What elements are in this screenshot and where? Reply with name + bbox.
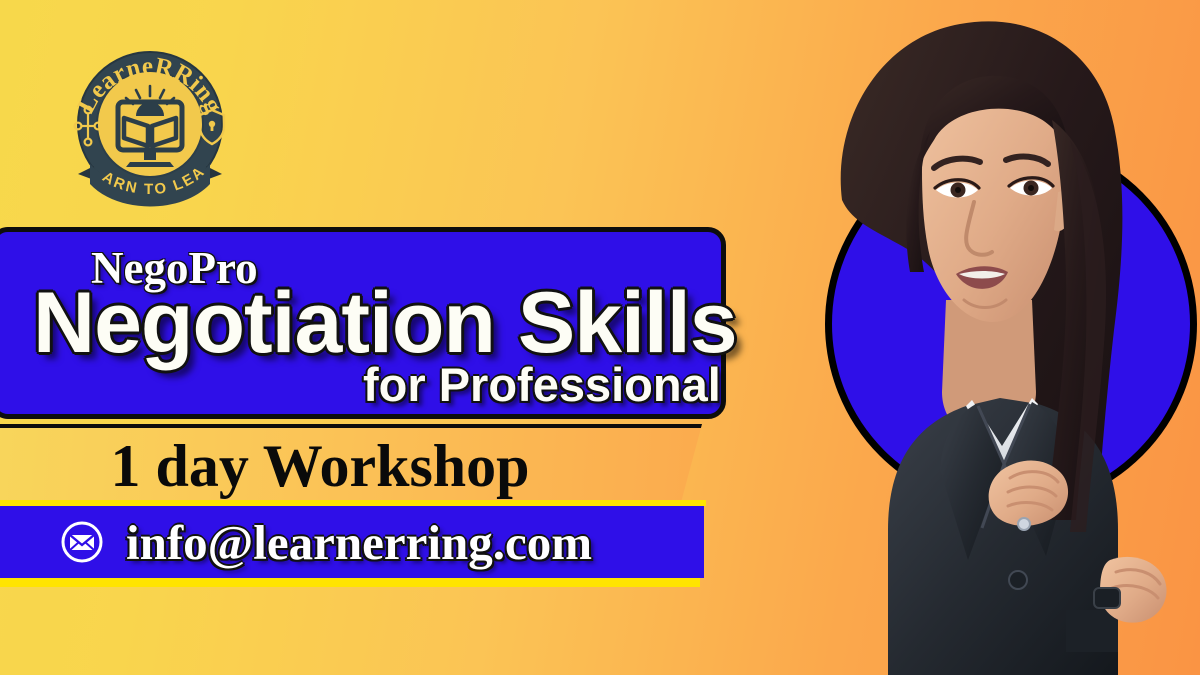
page-title: Negotiation Skills [33,280,737,366]
envelope-icon [60,520,104,564]
title-panel: NegoPro Negotiation Skills for Professio… [0,227,726,419]
accent-stripe-bottom [0,578,700,587]
presenter-photo-area [770,0,1200,675]
workshop-label: 1 day Workshop [0,428,650,504]
workshop-band: 1 day Workshop [0,424,702,504]
promo-banner: LearneRRing [0,0,1200,675]
brand-logo: LearneRRing [66,34,234,216]
title-subhead: for Professional [363,357,721,412]
contact-bar: info@learnerring.com [0,506,704,578]
presenter-photo [770,0,1200,675]
contact-email[interactable]: info@learnerring.com [126,514,592,571]
